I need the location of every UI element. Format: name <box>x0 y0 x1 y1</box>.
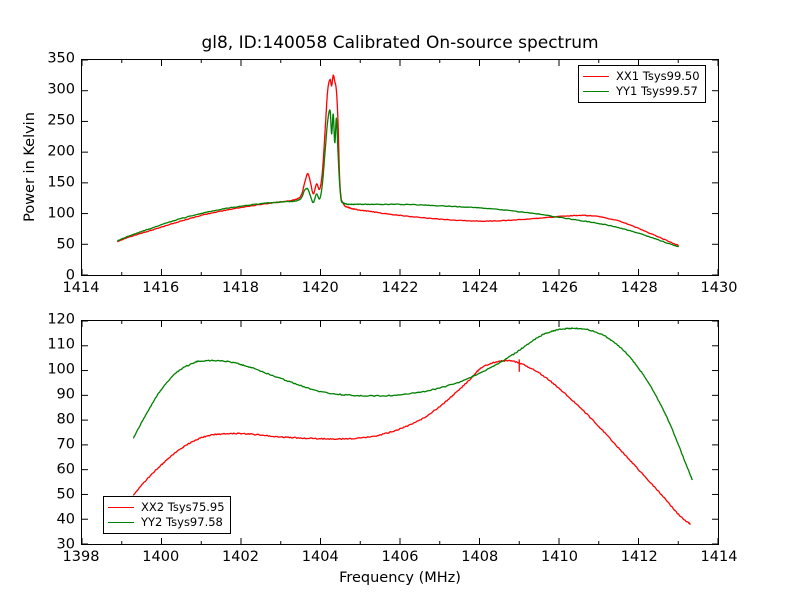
legend-label-xx1: XX1 Tsys99.50 <box>616 70 700 83</box>
x-tick-label: 1400 <box>142 550 179 565</box>
y-tick-label: 100 <box>23 363 75 378</box>
legend-label-xx2: XX2 Tsys75.95 <box>141 501 225 514</box>
legend-label-yy2: YY2 Tsys97.58 <box>141 516 223 529</box>
x-tick-label: 1418 <box>222 281 259 296</box>
y-tick-label: 100 <box>23 207 75 222</box>
top-legend: XX1 Tsys99.50 YY1 Tsys99.57 <box>578 65 706 103</box>
y-tick-label: 120 <box>23 313 75 328</box>
legend-item: XX1 Tsys99.50 <box>583 69 700 84</box>
y-tick-label: 50 <box>23 488 75 503</box>
figure-canvas: gl8, ID:140058 Calibrated On-source spec… <box>0 0 800 600</box>
x-tick-label: 1420 <box>302 281 339 296</box>
y-tick-label: 110 <box>23 338 75 353</box>
y-tick-label: 60 <box>23 463 75 478</box>
y-tick-label: 300 <box>23 83 75 98</box>
legend-item: YY2 Tsys97.58 <box>108 515 225 530</box>
legend-item: YY1 Tsys99.57 <box>583 84 700 99</box>
y-tick-label: 200 <box>23 145 75 160</box>
legend-label-yy1: YY1 Tsys99.57 <box>616 85 698 98</box>
x-tick-label: 1404 <box>302 550 339 565</box>
x-tick-label: 1422 <box>382 281 419 296</box>
x-tick-label: 1430 <box>701 281 738 296</box>
x-tick-label: 1414 <box>701 550 738 565</box>
legend-swatch-xx1 <box>583 76 609 77</box>
legend-item: XX2 Tsys75.95 <box>108 500 225 515</box>
legend-swatch-yy2 <box>108 522 134 523</box>
x-tick-label: 1410 <box>541 550 578 565</box>
y-tick-label: 350 <box>23 52 75 67</box>
series-line <box>134 328 692 480</box>
y-tick-label: 90 <box>23 388 75 403</box>
x-tick-label: 1428 <box>621 281 658 296</box>
figure-title: gl8, ID:140058 Calibrated On-source spec… <box>81 33 719 53</box>
y-tick-label: 70 <box>23 438 75 453</box>
x-tick-label: 1402 <box>222 550 259 565</box>
x-tick-label: 1426 <box>541 281 578 296</box>
y-tick-label: 80 <box>23 413 75 428</box>
x-tick-label: 1406 <box>382 550 419 565</box>
legend-swatch-yy1 <box>583 91 609 92</box>
x-tick-label: 1416 <box>142 281 179 296</box>
y-tick-label: 50 <box>23 238 75 253</box>
x-tick-label: 1412 <box>621 550 658 565</box>
x-tick-label: 1414 <box>63 281 100 296</box>
y-tick-label: 40 <box>23 513 75 528</box>
x-tick-label: 1408 <box>461 550 498 565</box>
x-tick-label: 1424 <box>461 281 498 296</box>
bottom-x-axis-label: Frequency (MHz) <box>81 570 719 586</box>
x-tick-label: 1398 <box>63 550 100 565</box>
legend-swatch-xx2 <box>108 507 134 508</box>
bottom-legend: XX2 Tsys75.95 YY2 Tsys97.58 <box>103 496 231 534</box>
y-tick-label: 150 <box>23 176 75 191</box>
series-line <box>118 110 678 247</box>
y-tick-label: 250 <box>23 114 75 129</box>
